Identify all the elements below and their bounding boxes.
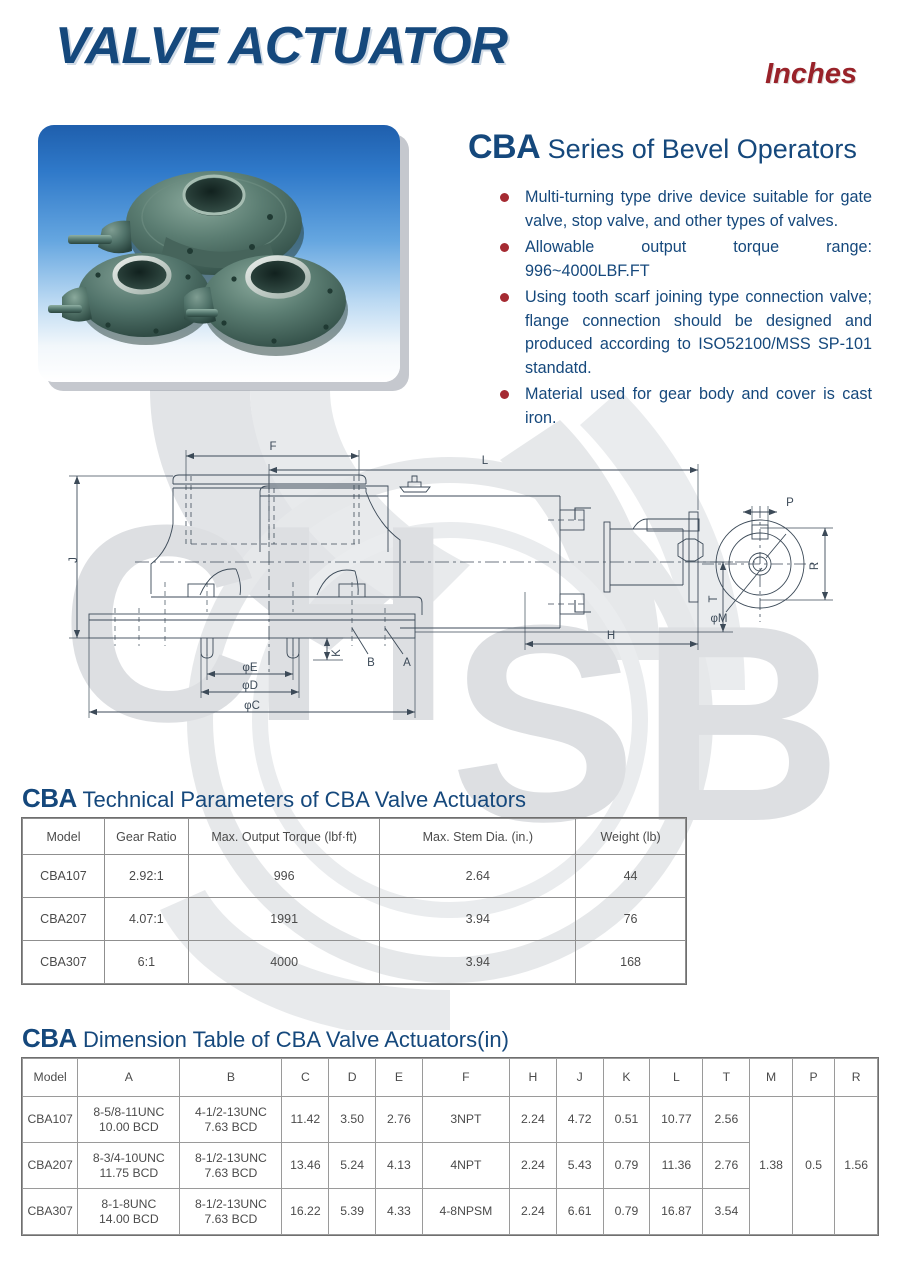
bullet-dot-icon bbox=[500, 390, 509, 399]
bullet-dot-icon bbox=[500, 243, 509, 252]
cell-gear-ratio: 6:1 bbox=[104, 941, 188, 984]
cell-j: 5.43 bbox=[556, 1143, 603, 1189]
cell-d: 5.24 bbox=[329, 1143, 376, 1189]
series-heading: CBA Series of Bevel Operators bbox=[468, 128, 857, 167]
cell-torque: 996 bbox=[188, 855, 380, 898]
dim-section-heading: CBA Dimension Table of CBA Valve Actuato… bbox=[22, 1023, 509, 1054]
col-header-b: B bbox=[180, 1059, 282, 1097]
cell-c: 13.46 bbox=[282, 1143, 329, 1189]
feature-text: Using tooth scarf joining type connectio… bbox=[525, 288, 872, 377]
cell-stem-dia: 3.94 bbox=[380, 898, 576, 941]
cell-a-line1: 8-5/8-11UNC bbox=[79, 1105, 178, 1120]
series-subtitle: Series of Bevel Operators bbox=[540, 134, 857, 164]
bullet-dot-icon bbox=[500, 293, 509, 302]
col-header-torque: Max. Output Torque (lbf·ft) bbox=[188, 819, 380, 855]
cell-t: 2.56 bbox=[703, 1097, 750, 1143]
cell-gear-ratio: 2.92:1 bbox=[104, 855, 188, 898]
list-item: Material used for gear body and cover is… bbox=[500, 383, 872, 430]
col-header-h: H bbox=[509, 1059, 556, 1097]
cell-h: 2.24 bbox=[509, 1097, 556, 1143]
dim-label-K: K bbox=[331, 649, 343, 657]
table-row: CBA107 2.92:1 996 2.64 44 bbox=[23, 855, 686, 898]
cell-h: 2.24 bbox=[509, 1189, 556, 1235]
product-photo bbox=[38, 125, 400, 382]
table-header-row: Model A B C D E F H J K L T M P R bbox=[23, 1059, 878, 1097]
cell-b-line2: 7.63 BCD bbox=[181, 1166, 280, 1181]
tech-section-code: CBA bbox=[22, 783, 77, 813]
series-code: CBA bbox=[468, 128, 540, 166]
cell-e: 2.76 bbox=[376, 1097, 423, 1143]
cell-k: 0.79 bbox=[603, 1189, 650, 1235]
cell-r: 1.56 bbox=[835, 1097, 878, 1235]
cell-f: 3NPT bbox=[422, 1097, 509, 1143]
dim-label-A: A bbox=[403, 657, 411, 669]
col-header-t: T bbox=[703, 1059, 750, 1097]
table-row: CBA207 8-3/4-10UNC 11.75 BCD 8-1/2-13UNC… bbox=[23, 1143, 878, 1189]
cell-a: 8-3/4-10UNC 11.75 BCD bbox=[78, 1143, 180, 1189]
cell-a-line2: 11.75 BCD bbox=[79, 1166, 178, 1181]
dim-label-F: F bbox=[269, 441, 276, 453]
dim-label-phiE: φE bbox=[242, 662, 257, 674]
cell-k: 0.79 bbox=[603, 1143, 650, 1189]
cell-k: 0.51 bbox=[603, 1097, 650, 1143]
col-header-m: M bbox=[750, 1059, 793, 1097]
actuator-photo-illustration bbox=[38, 125, 400, 382]
dim-label-R: R bbox=[809, 562, 821, 570]
col-header-weight: Weight (lb) bbox=[576, 819, 686, 855]
technical-parameters-table: Model Gear Ratio Max. Output Torque (lbf… bbox=[22, 818, 686, 984]
cell-d: 5.39 bbox=[329, 1189, 376, 1235]
cell-p: 0.5 bbox=[792, 1097, 835, 1235]
cell-b: 8-1/2-13UNC 7.63 BCD bbox=[180, 1143, 282, 1189]
table-row: CBA107 8-5/8-11UNC 10.00 BCD 4-1/2-13UNC… bbox=[23, 1097, 878, 1143]
dim-label-H: H bbox=[607, 630, 615, 642]
dim-label-L: L bbox=[482, 455, 489, 467]
product-photo-container bbox=[38, 125, 408, 390]
cell-stem-dia: 2.64 bbox=[380, 855, 576, 898]
cell-l: 10.77 bbox=[650, 1097, 703, 1143]
cell-torque: 1991 bbox=[188, 898, 380, 941]
cell-j: 6.61 bbox=[556, 1189, 603, 1235]
col-header-j: J bbox=[556, 1059, 603, 1097]
cell-b-line1: 8-1/2-13UNC bbox=[181, 1197, 280, 1212]
cell-a: 8-1-8UNC 14.00 BCD bbox=[78, 1189, 180, 1235]
cell-b: 8-1/2-13UNC 7.63 BCD bbox=[180, 1189, 282, 1235]
table-header-row: Model Gear Ratio Max. Output Torque (lbf… bbox=[23, 819, 686, 855]
dim-section-title: Dimension Table of CBA Valve Actuators(i… bbox=[77, 1027, 509, 1052]
col-header-c: C bbox=[282, 1059, 329, 1097]
list-item: Multi-turning type drive device suitable… bbox=[500, 186, 872, 233]
col-header-model: Model bbox=[23, 819, 105, 855]
cell-b-line2: 7.63 BCD bbox=[181, 1212, 280, 1227]
cell-a: 8-5/8-11UNC 10.00 BCD bbox=[78, 1097, 180, 1143]
cell-l: 11.36 bbox=[650, 1143, 703, 1189]
col-header-model: Model bbox=[23, 1059, 78, 1097]
col-header-e: E bbox=[376, 1059, 423, 1097]
dim-label-T: T bbox=[708, 595, 720, 602]
cell-b-line2: 7.63 BCD bbox=[181, 1120, 280, 1135]
tech-section-heading: CBA Technical Parameters of CBA Valve Ac… bbox=[22, 783, 526, 814]
dim-label-phiC: φC bbox=[244, 700, 260, 712]
cell-f: 4NPT bbox=[422, 1143, 509, 1189]
col-header-d: D bbox=[329, 1059, 376, 1097]
cell-weight: 168 bbox=[576, 941, 686, 984]
dim-label-P: P bbox=[786, 497, 794, 509]
cell-l: 16.87 bbox=[650, 1189, 703, 1235]
cell-c: 16.22 bbox=[282, 1189, 329, 1235]
cell-model: CBA207 bbox=[23, 898, 105, 941]
col-header-stem-dia: Max. Stem Dia. (in.) bbox=[380, 819, 576, 855]
cell-e: 4.13 bbox=[376, 1143, 423, 1189]
cell-model: CBA307 bbox=[23, 1189, 78, 1235]
cell-t: 3.54 bbox=[703, 1189, 750, 1235]
cell-a-line1: 8-1-8UNC bbox=[79, 1197, 178, 1212]
cell-torque: 4000 bbox=[188, 941, 380, 984]
list-item: Allowable output torque range: 996~4000L… bbox=[500, 236, 872, 283]
dim-label-B: B bbox=[367, 657, 375, 669]
cell-gear-ratio: 4.07:1 bbox=[104, 898, 188, 941]
col-header-a: A bbox=[78, 1059, 180, 1097]
cell-model: CBA107 bbox=[23, 1097, 78, 1143]
dim-label-phiM: φM bbox=[710, 613, 727, 625]
col-header-k: K bbox=[603, 1059, 650, 1097]
col-header-l: L bbox=[650, 1059, 703, 1097]
cell-weight: 44 bbox=[576, 855, 686, 898]
list-item: Using tooth scarf joining type connectio… bbox=[500, 286, 872, 380]
tech-section-title: Technical Parameters of CBA Valve Actuat… bbox=[77, 787, 526, 812]
dim-label-phiD: φD bbox=[242, 680, 258, 692]
col-header-f: F bbox=[422, 1059, 509, 1097]
dim-section-code: CBA bbox=[22, 1023, 77, 1053]
cell-b: 4-1/2-13UNC 7.63 BCD bbox=[180, 1097, 282, 1143]
cell-model: CBA307 bbox=[23, 941, 105, 984]
cell-stem-dia: 3.94 bbox=[380, 941, 576, 984]
cell-a-line2: 10.00 BCD bbox=[79, 1120, 178, 1135]
cell-m: 1.38 bbox=[750, 1097, 793, 1235]
cell-c: 11.42 bbox=[282, 1097, 329, 1143]
cell-d: 3.50 bbox=[329, 1097, 376, 1143]
dimension-table: Model A B C D E F H J K L T M P R CBA107… bbox=[22, 1058, 878, 1235]
col-header-r: R bbox=[835, 1059, 878, 1097]
cell-a-line2: 14.00 BCD bbox=[79, 1212, 178, 1227]
table-row: CBA307 6:1 4000 3.94 168 bbox=[23, 941, 686, 984]
dim-label-J: J bbox=[68, 557, 80, 563]
cell-weight: 76 bbox=[576, 898, 686, 941]
feature-text: Multi-turning type drive device suitable… bbox=[525, 188, 872, 230]
col-header-gear-ratio: Gear Ratio bbox=[104, 819, 188, 855]
table-row: CBA307 8-1-8UNC 14.00 BCD 8-1/2-13UNC 7.… bbox=[23, 1189, 878, 1235]
cell-f: 4-8NPSM bbox=[422, 1189, 509, 1235]
cell-b-line1: 4-1/2-13UNC bbox=[181, 1105, 280, 1120]
cell-h: 2.24 bbox=[509, 1143, 556, 1189]
col-header-p: P bbox=[792, 1059, 835, 1097]
units-label: Inches bbox=[765, 58, 857, 91]
cell-t: 2.76 bbox=[703, 1143, 750, 1189]
page-title: VALVE ACTUATOR bbox=[55, 16, 507, 76]
cell-e: 4.33 bbox=[376, 1189, 423, 1235]
cell-b-line1: 8-1/2-13UNC bbox=[181, 1151, 280, 1166]
feature-text: Material used for gear body and cover is… bbox=[525, 385, 872, 427]
feature-text: Allowable output torque range: 996~4000L… bbox=[525, 238, 872, 280]
cell-a-line1: 8-3/4-10UNC bbox=[79, 1151, 178, 1166]
cell-j: 4.72 bbox=[556, 1097, 603, 1143]
table-row: CBA207 4.07:1 1991 3.94 76 bbox=[23, 898, 686, 941]
cell-model: CBA107 bbox=[23, 855, 105, 898]
cell-model: CBA207 bbox=[23, 1143, 78, 1189]
feature-list: Multi-turning type drive device suitable… bbox=[500, 186, 872, 433]
bullet-dot-icon bbox=[500, 193, 509, 202]
technical-drawing: F L J φE φD φC K H T P R φM A B bbox=[55, 432, 855, 762]
